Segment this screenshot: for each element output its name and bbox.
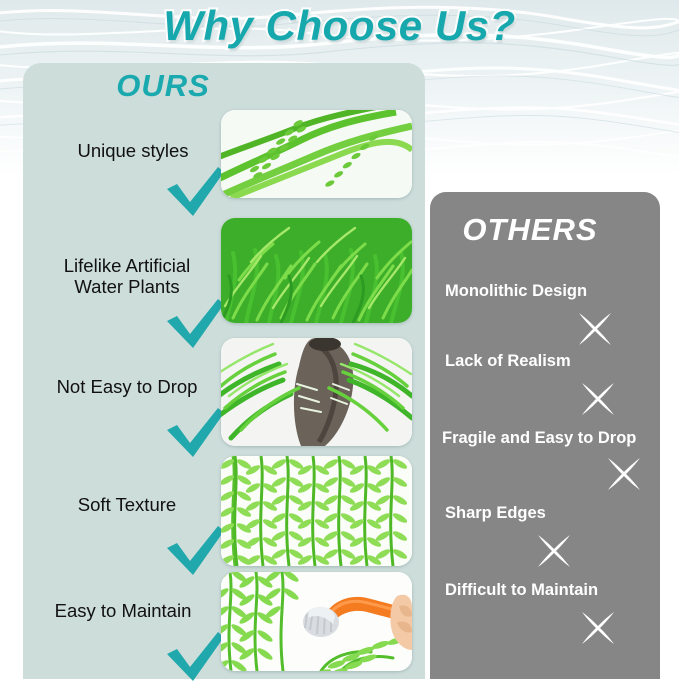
cross-icon (604, 454, 644, 494)
ours-item-label: Easy to Maintain (23, 600, 223, 621)
ours-item-label: Not Easy to Drop (27, 376, 227, 397)
ours-item-label: Soft Texture (27, 494, 227, 515)
ours-row: Lifelike Artificial Water Plants (23, 225, 425, 335)
ours-item-label: Unique styles (33, 140, 233, 161)
other-row: Lack of Realism (430, 352, 660, 432)
other-item-label: Fragile and Easy to Drop (442, 429, 636, 448)
other-row: Difficult to Maintain (430, 581, 660, 661)
page-title: Why Choose Us? (0, 2, 679, 50)
other-item-label: Difficult to Maintain (445, 581, 598, 600)
ours-item-image (221, 456, 412, 566)
other-row: Fragile and Easy to Drop (430, 429, 660, 509)
ours-row: Soft Texture (23, 468, 425, 573)
cross-icon (534, 531, 574, 571)
other-item-label: Sharp Edges (445, 504, 546, 523)
ours-label: OURS (23, 68, 303, 104)
check-icon (164, 165, 226, 219)
ours-item-image (221, 338, 412, 446)
ours-item-image (221, 572, 412, 671)
others-label: OTHERS (430, 212, 630, 248)
other-item-label: Monolithic Design (445, 282, 587, 301)
check-icon (164, 406, 226, 460)
ours-row: Not Easy to Drop (23, 348, 425, 453)
check-icon (164, 630, 226, 684)
ours-item-label: Lifelike Artificial Water Plants (27, 255, 227, 298)
cross-icon (578, 379, 618, 419)
ours-item-image (221, 110, 412, 198)
other-row: Monolithic Design (430, 282, 660, 362)
ours-row: Unique styles (23, 110, 425, 210)
other-row: Sharp Edges (430, 504, 660, 584)
check-icon (164, 297, 226, 351)
check-icon (164, 524, 226, 578)
ours-row: Easy to Maintain (23, 580, 425, 679)
cross-icon (578, 608, 618, 648)
ours-item-image (221, 218, 412, 323)
cross-icon (575, 309, 615, 349)
other-item-label: Lack of Realism (445, 352, 571, 371)
